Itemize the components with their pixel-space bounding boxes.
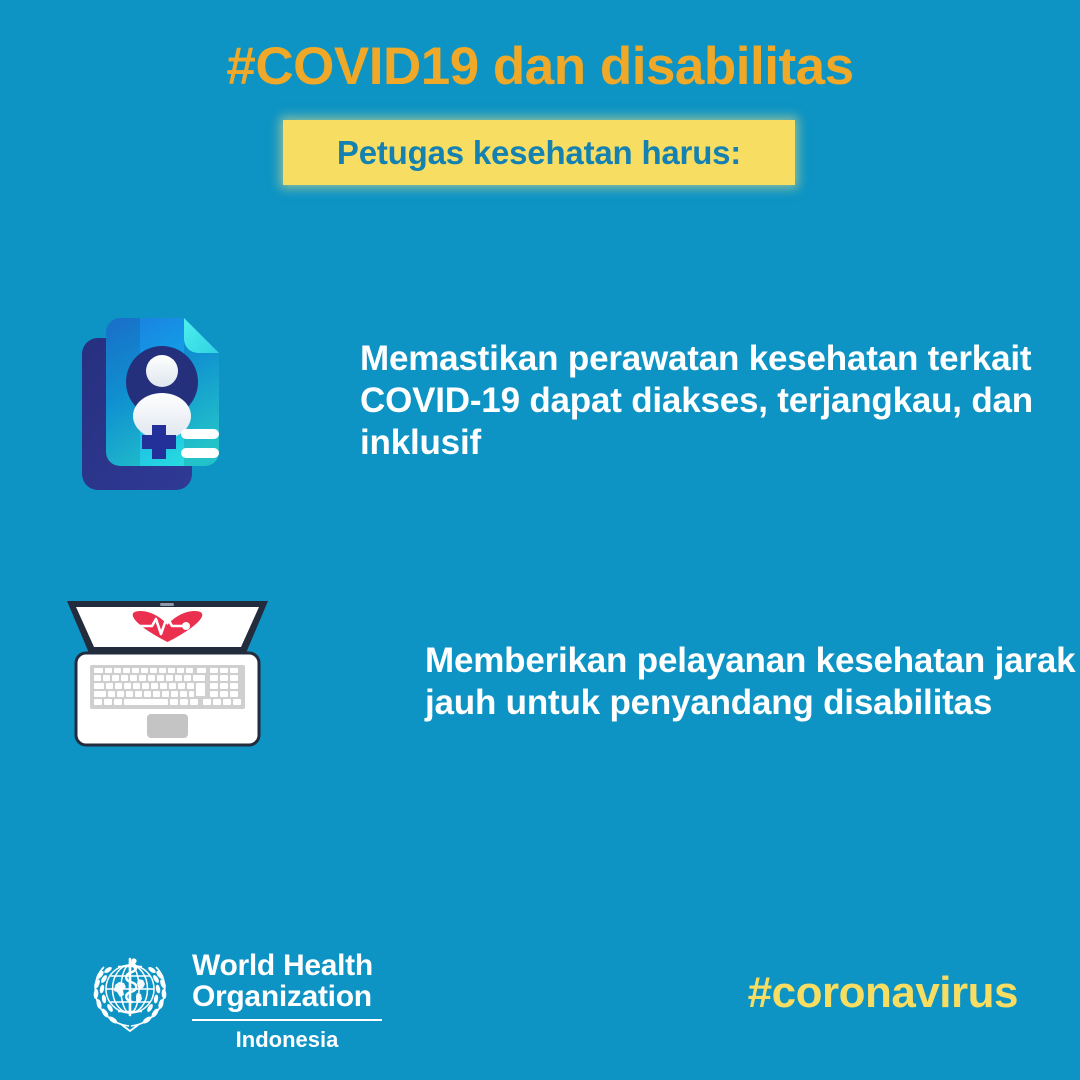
subtitle-highlight-band: Petugas kesehatan harus: [283, 120, 795, 185]
who-emblem-icon [82, 945, 178, 1041]
poster-canvas: #COVID19 dan disabilitas Petugas kesehat… [0, 0, 1080, 1080]
subtitle-text: Petugas kesehatan harus: [337, 136, 741, 169]
who-name-line-1: World Health [192, 951, 382, 982]
list-item-text: Memberikan pelayanan kesehatan jarak jau… [425, 640, 1080, 724]
hashtag-coronavirus: #coronavirus [748, 968, 1018, 1018]
who-divider [192, 1019, 382, 1021]
medical-record-icon [80, 300, 245, 500]
who-logo: World Health Organization Indonesia [82, 945, 382, 1053]
laptop-telehealth-icon [60, 595, 275, 755]
who-country-label: Indonesia [192, 1027, 382, 1053]
who-wordmark: World Health Organization Indonesia [192, 945, 382, 1053]
list-item: Memberikan pelayanan kesehatan jarak jau… [60, 595, 1080, 755]
who-name-line-2: Organization [192, 982, 382, 1013]
list-item-text: Memastikan perawatan kesehatan terkait C… [360, 338, 1080, 464]
page-title: #COVID19 dan disabilitas [0, 38, 1080, 96]
list-item: Memastikan perawatan kesehatan terkait C… [80, 300, 1080, 500]
